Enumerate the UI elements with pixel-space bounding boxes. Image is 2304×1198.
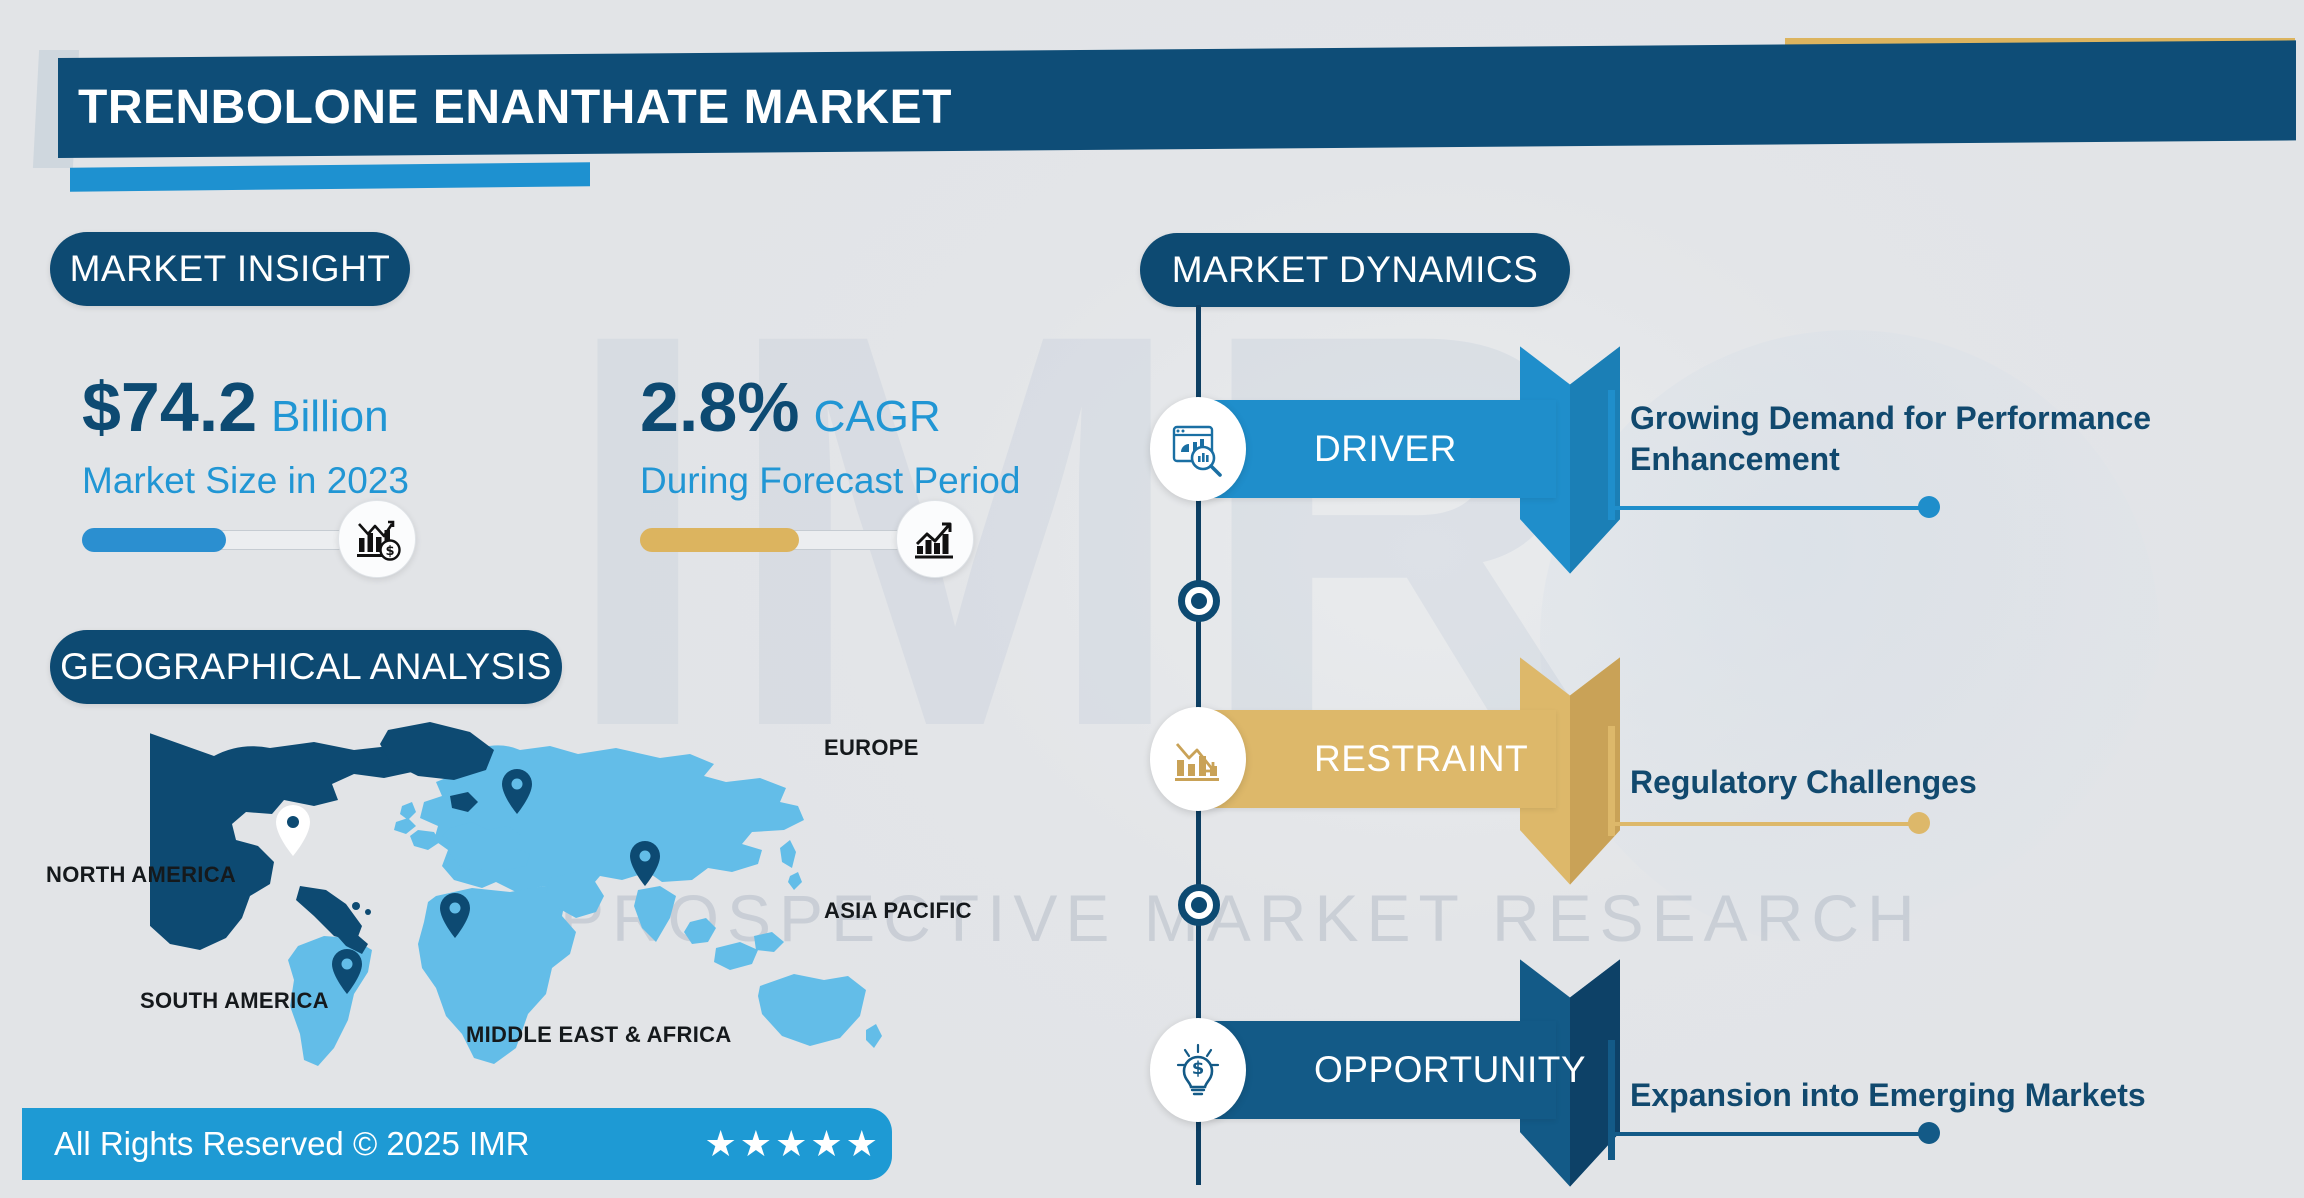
stat-label: Market Size in 2023 [82, 460, 412, 502]
stat-value: $74.2 [82, 372, 257, 442]
infographic-canvas: IMR PROSPECTIVE MARKET RESEARCH TRENBOLO… [0, 0, 2304, 1198]
opportunity-label-bar: OPPORTUNITY [1196, 1021, 1556, 1119]
progress-fill [640, 528, 799, 552]
market-research-magnifier-icon [1150, 397, 1246, 501]
stat-unit: Billion [271, 392, 388, 442]
opportunity-description: Expansion into Emerging Markets [1630, 1075, 2146, 1116]
svg-text:$: $ [385, 544, 394, 559]
driver-underline [1608, 506, 1928, 510]
stat-card-cagr: 2.8%CAGR During Forecast Period [640, 372, 1020, 552]
stat-value: 2.8% [640, 372, 800, 442]
svg-text:$: $ [1192, 1058, 1205, 1079]
map-pin-north-america [276, 805, 310, 856]
page-title: TRENBOLONE ENANTHATE MARKET [78, 80, 952, 135]
driver-description: Growing Demand for Performance Enhanceme… [1630, 398, 2151, 480]
map-label-north-america: NORTH AMERICA [46, 862, 236, 888]
rating-stars: ★★★★★ [705, 1123, 881, 1165]
footer-bar: All Rights Reserved © 2025 IMR ★★★★★ [22, 1108, 892, 1180]
map-label-middle-east-africa: MIDDLE EAST & AFRICA [466, 1022, 732, 1048]
progress-fill [82, 528, 226, 552]
opportunity-underline [1608, 1132, 1928, 1136]
restraint-underline [1608, 822, 1918, 826]
restraint-description: Regulatory Challenges [1630, 762, 1977, 803]
driver-type-label: DRIVER [1314, 428, 1457, 470]
section-heading-market-dynamics: MARKET DYNAMICS [1140, 233, 1570, 307]
growth-chart-arrow-icon [896, 500, 974, 578]
map-pin-asia-pacific [630, 841, 660, 886]
bar-chart-dollar-icon: $ [338, 500, 416, 578]
lightbulb-dollar-icon: $ [1150, 1018, 1246, 1122]
opportunity-type-label: OPPORTUNITY [1314, 1049, 1586, 1091]
world-map [150, 710, 970, 1070]
section-heading-geographical-analysis: GEOGRAPHICAL ANALYSIS [50, 630, 562, 704]
stat-card-market-size: $74.2Billion Market Size in 2023 $ [82, 372, 412, 552]
progress-bar-cagr [640, 528, 970, 552]
map-label-south-america: SOUTH AMERICA [140, 988, 329, 1014]
map-label-asia-pacific: ASIA PACIFIC [824, 898, 972, 924]
map-label-europe: EUROPE [824, 735, 919, 761]
progress-bar-market-size: $ [82, 528, 412, 552]
driver-text-accent [1608, 390, 1615, 520]
stat-label: During Forecast Period [640, 460, 1020, 502]
declining-bar-chart-icon [1150, 707, 1246, 811]
timeline-node-2 [1178, 884, 1220, 926]
restraint-end-dot [1908, 812, 1930, 834]
header-accent-bar [70, 162, 590, 191]
opportunity-text-accent [1608, 1040, 1615, 1160]
section-heading-market-insight: MARKET INSIGHT [50, 232, 410, 306]
restraint-label-bar: RESTRAINT [1196, 710, 1556, 808]
restraint-type-label: RESTRAINT [1314, 738, 1528, 780]
stat-unit: CAGR [814, 392, 941, 442]
driver-label-bar: DRIVER [1196, 400, 1556, 498]
opportunity-end-dot [1918, 1122, 1940, 1144]
copyright-text: All Rights Reserved © 2025 IMR [54, 1125, 530, 1163]
timeline-node-1 [1178, 580, 1220, 622]
restraint-text-accent [1608, 726, 1615, 836]
driver-end-dot [1918, 496, 1940, 518]
